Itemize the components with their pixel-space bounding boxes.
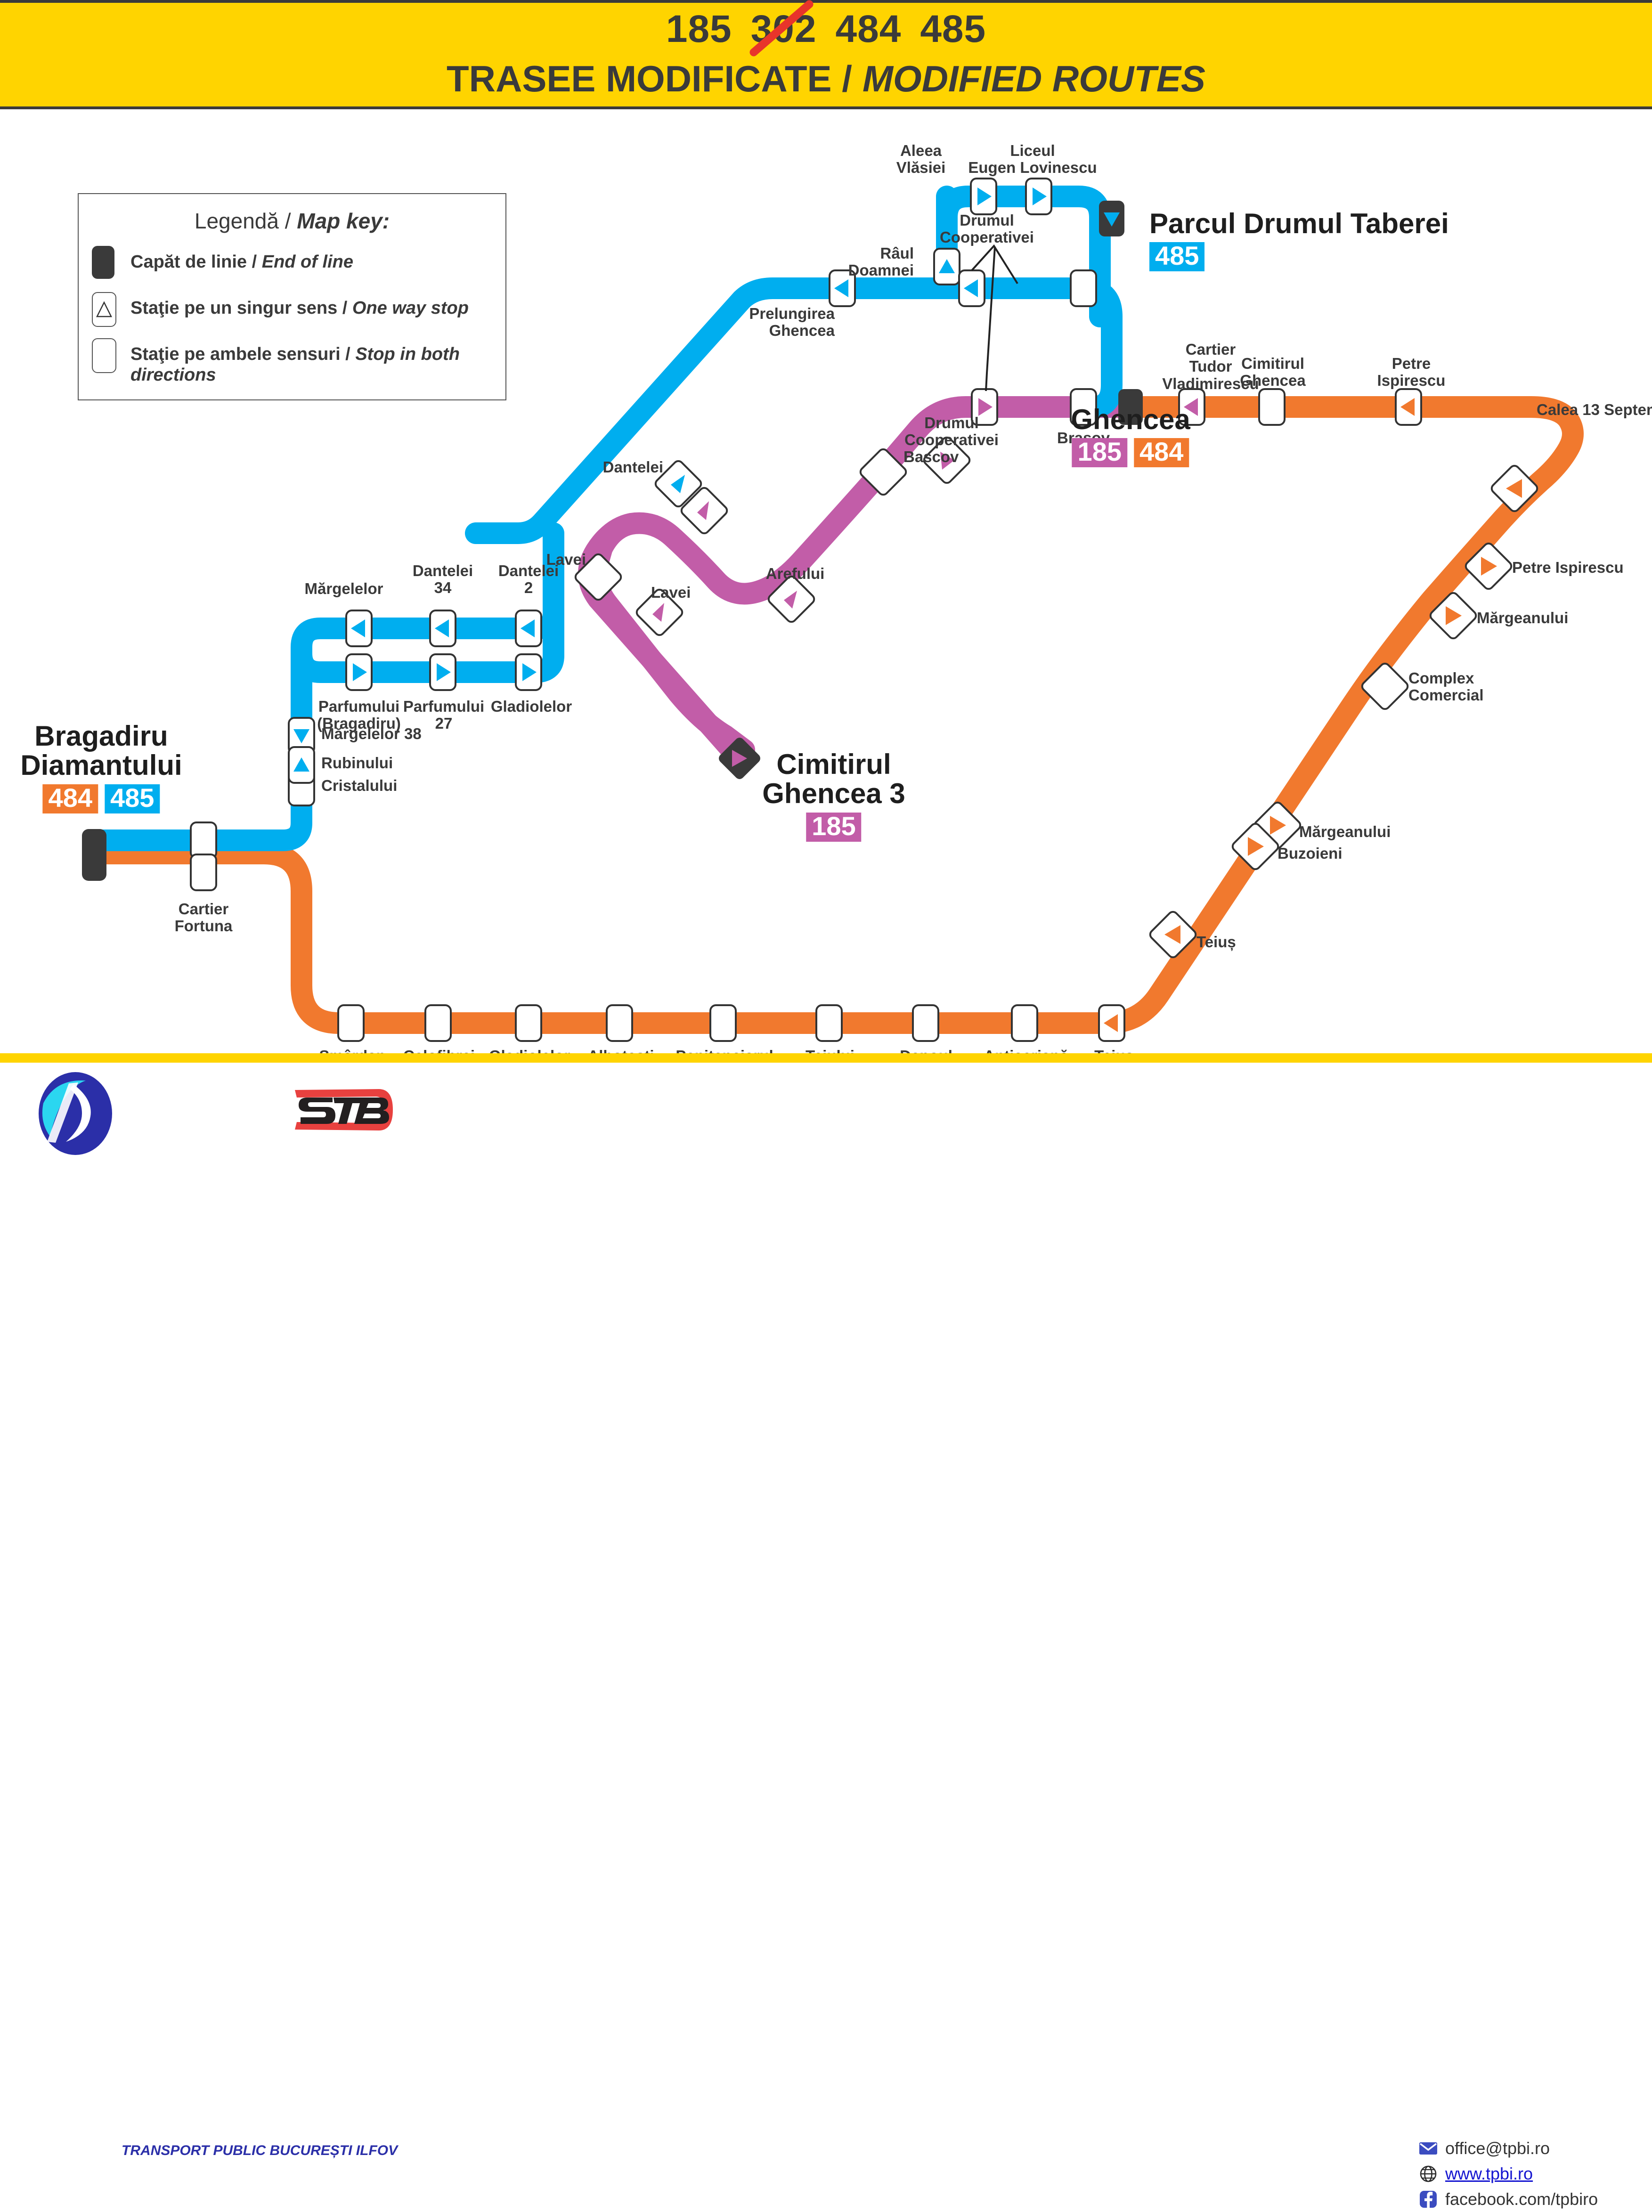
stop-label-raul-doamnei: Râul Doamnei bbox=[848, 245, 914, 279]
stop-marker-gladiolelor-blue bbox=[516, 654, 541, 690]
terminal-label-cimitirul-ghencea-3: Cimitirul Ghencea 3 185 bbox=[762, 750, 905, 842]
badge-485-bragadiru: 485 bbox=[105, 784, 160, 813]
stop-label-prelungirea-ghencea: Prelungirea Ghencea bbox=[749, 305, 835, 340]
badge-185-cimitirul: 185 bbox=[806, 813, 861, 842]
stop-label-dantelei-blue: Dantelei bbox=[603, 459, 663, 476]
stop-label-liceul-eugen-lovinescu: Liceul Eugen Lovinescu bbox=[968, 142, 1097, 177]
stop-marker-dantelei-2 bbox=[516, 610, 541, 646]
stop-label-parfumului-bragadiru: Parfumului (Bragadiru) bbox=[317, 698, 401, 732]
stop-label-aleea-vlasiei: Aleea Vlăsiei bbox=[896, 142, 946, 177]
terminal-name-cimitirul-ghencea-3: Cimitirul Ghencea 3 bbox=[762, 750, 905, 809]
stop-marker-petre-ispirescu-top bbox=[1396, 389, 1421, 425]
stop-marker-drumul-cooperativei-blue bbox=[959, 270, 985, 306]
header-title: TRASEE MODIFICATE / MODIFIED ROUTES bbox=[0, 54, 1652, 104]
stop-marker-antiaeriana bbox=[1012, 1005, 1037, 1041]
terminal-name-bragadiru-diamantului: Bragadiru Diamantului bbox=[20, 722, 182, 781]
stop-marker-dantelei-34 bbox=[430, 610, 456, 646]
stop-label-lavei-purple: Lavei bbox=[651, 584, 691, 601]
stop-label-lavei-blue: Lavei bbox=[546, 551, 586, 568]
badge-484: 484 bbox=[1134, 438, 1189, 467]
tpbi-logo-text: TRANSPORT PUBLIC BUCUREȘTI ILFOV bbox=[122, 2141, 398, 2160]
terminal-marker-parcul-drumul-taberei bbox=[1099, 201, 1124, 236]
route-number-302-crossed: 302 bbox=[751, 7, 817, 51]
contact-facebook: facebook.com/tpbiro bbox=[1419, 2187, 1598, 2212]
stop-label-petre-ispirescu-top: Petre Ispirescu bbox=[1377, 355, 1446, 390]
stop-marker-margelelor bbox=[346, 610, 372, 646]
route-number-185: 185 bbox=[666, 7, 732, 51]
route-line-185-upper bbox=[589, 407, 1131, 754]
route-line-484 bbox=[94, 407, 1573, 1023]
stop-label-arefului: Arefului bbox=[766, 565, 825, 582]
stop-marker-calea-13-septembrie bbox=[1490, 464, 1539, 513]
stop-label-teius-diagonal: Teiuș bbox=[1196, 934, 1236, 951]
stop-marker-liceul-eugen-lovinescu bbox=[1026, 179, 1051, 214]
stb-logo-icon bbox=[286, 1084, 399, 1135]
stop-marker-brasov-blue bbox=[1071, 270, 1096, 306]
stop-label-bascov: Bascov bbox=[903, 448, 959, 465]
stop-label-drumul-cooperativei-blue: Drumul Cooperativei bbox=[940, 212, 1034, 246]
route-number-484: 484 bbox=[836, 7, 902, 51]
stop-label-margeanului-lower: Mărgeanului bbox=[1299, 823, 1391, 840]
terminal-name-parcul-drumul-taberei: Parcul Drumul Taberei bbox=[1149, 209, 1449, 238]
route-number-485: 485 bbox=[920, 7, 986, 51]
stop-marker-smardan bbox=[338, 1005, 364, 1041]
stop-label-cimitirul-ghencea: Cimitirul Ghencea bbox=[1240, 355, 1305, 390]
terminal-name-ghencea: Ghencea bbox=[1071, 405, 1190, 434]
terminal-marker-bragadiru bbox=[82, 829, 106, 881]
stop-marker-parfumului-bragadiru bbox=[346, 654, 372, 690]
badge-185: 185 bbox=[1072, 438, 1127, 467]
stop-marker-teius bbox=[1099, 1005, 1124, 1041]
stop-label-cristalului: Cristalului bbox=[321, 777, 397, 794]
route-number-302-text: 302 bbox=[751, 8, 817, 50]
route-numbers-row: 185 302 484 485 bbox=[0, 6, 1652, 53]
globe-icon bbox=[1419, 2165, 1438, 2183]
contact-email-text: office@tpbi.ro bbox=[1445, 2136, 1550, 2162]
stop-marker-cartier-fortuna-blue bbox=[191, 822, 216, 858]
stop-marker-albotesti bbox=[607, 1005, 632, 1041]
facebook-icon bbox=[1419, 2190, 1438, 2209]
stop-label-drumul-cooperativei-purple: Drumul Cooperativei bbox=[904, 415, 999, 449]
header-title-ro: TRASEE MODIFICATE / bbox=[447, 57, 852, 100]
stop-marker-rubinului bbox=[289, 747, 314, 783]
stop-marker-teiului bbox=[816, 1005, 842, 1041]
stop-marker-cartier-fortuna-orange bbox=[191, 854, 216, 890]
footer-divider bbox=[0, 1053, 1652, 1063]
badge-484-bragadiru: 484 bbox=[43, 784, 98, 813]
contact-email: office@tpbi.ro bbox=[1419, 2136, 1598, 2161]
mail-icon bbox=[1419, 2141, 1438, 2155]
stop-marker-aleea-vlasiei bbox=[971, 179, 996, 214]
route-map: Aleea Vlăsiei Liceul Eugen Lovinescu Râu… bbox=[0, 109, 1652, 1051]
stop-label-petre-ispirescu: Petre Ispirescu bbox=[1512, 559, 1624, 576]
stop-marker-raul-doamnei bbox=[934, 249, 960, 285]
stop-label-gladiolelor-blue: Gladiolelor bbox=[491, 698, 572, 715]
tpbi-logo-icon bbox=[33, 1070, 118, 1155]
stop-label-dantelei-34: Dantelei 34 bbox=[413, 562, 473, 597]
contact-facebook-text: facebook.com/tpbiro bbox=[1445, 2187, 1598, 2212]
footer: TRANSPORT PUBLIC BUCUREȘTI ILFOV office@… bbox=[0, 1063, 1652, 1157]
stop-marker-cimitirul-ghencea bbox=[1259, 389, 1285, 425]
stop-label-margelelor: Mărgelelor bbox=[305, 580, 383, 597]
stop-label-buzoieni: Buzoieni bbox=[1278, 845, 1343, 862]
stop-label-margeanului-upper: Mărgeanului bbox=[1477, 610, 1568, 626]
header-title-en: MODIFIED ROUTES bbox=[863, 57, 1205, 100]
terminal-label-bragadiru-diamantului: Bragadiru Diamantului 484 485 bbox=[20, 722, 182, 813]
contact-website[interactable]: www.tpbi.ro bbox=[1419, 2161, 1598, 2187]
badge-485: 485 bbox=[1149, 242, 1204, 271]
contact-info: office@tpbi.ro www.tpbi.ro facebook.com/… bbox=[1419, 2136, 1598, 2212]
terminal-label-ghencea: Ghencea 185 484 bbox=[1071, 405, 1190, 467]
stop-label-parfumului-27: Parfumului 27 bbox=[403, 698, 484, 732]
stop-label-complex-comercial: Complex Comercial bbox=[1408, 670, 1484, 704]
stop-label-cartier-fortuna: Cartier Fortuna bbox=[175, 901, 233, 935]
stop-marker-celofibrei bbox=[425, 1005, 451, 1041]
stop-marker-depoul-alexandria bbox=[913, 1005, 938, 1041]
stop-label-rubinului: Rubinului bbox=[321, 755, 393, 772]
stop-marker-gladiolelor-orange bbox=[516, 1005, 541, 1041]
stop-marker-penitenciarul-rahova bbox=[710, 1005, 736, 1041]
stop-label-calea-13-septembrie: Calea 13 Septembrie bbox=[1537, 401, 1652, 418]
header-banner: 185 302 484 485 TRASEE MODIFICATE / MODI… bbox=[0, 0, 1652, 109]
contact-website-text[interactable]: www.tpbi.ro bbox=[1445, 2161, 1533, 2187]
stop-marker-parfumului-27 bbox=[430, 654, 456, 690]
terminal-label-parcul-drumul-taberei: Parcul Drumul Taberei 485 bbox=[1149, 209, 1449, 271]
